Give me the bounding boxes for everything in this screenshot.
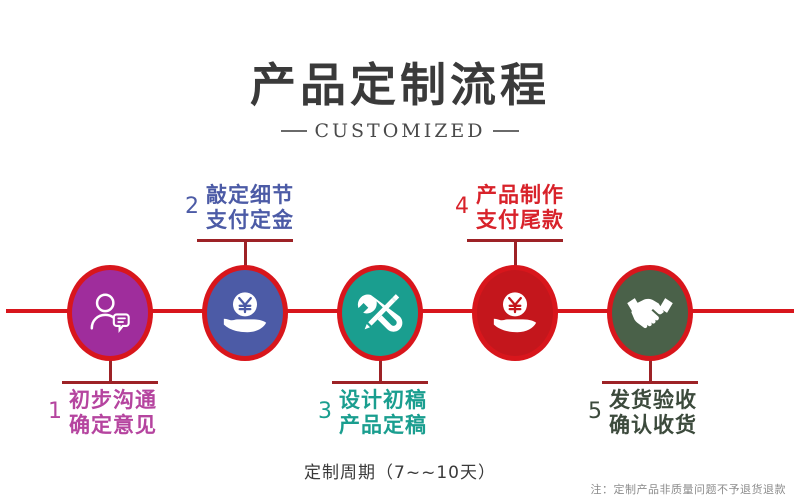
step-node-4[interactable] [472,265,558,361]
step-number-2: 2 [185,183,199,219]
step-text-2: 敲定细节 支付定金 [206,183,294,233]
subtitle-rule-right [493,130,519,132]
hand-yuan-coin-icon [220,288,270,338]
wrench-pencil-icon [356,289,404,337]
step-number-1: 1 [48,388,62,424]
step-disc-2 [207,270,283,356]
disclaimer-note: 注：定制产品非质量问题不予退货退款 [591,481,787,497]
connector-bar-2 [197,239,293,242]
connector-bar-5 [602,381,698,384]
step-node-5[interactable] [607,265,693,361]
step-node-2[interactable] [202,265,288,361]
subtitle-group: CUSTOMIZED [0,120,800,142]
connector-bar-4 [467,239,563,242]
step-number-4: 4 [455,183,469,219]
customization-flow-infographic: 产品定制流程 CUSTOMIZED [0,0,800,501]
step-disc-3 [342,270,418,356]
handshake-icon [625,290,675,336]
step-disc-4 [477,270,553,356]
step-node-1[interactable] [67,265,153,361]
cycle-text: 定制周期（7~~10天） [0,458,800,483]
page-subtitle: CUSTOMIZED [314,120,485,142]
subtitle-rule-left [281,130,307,132]
step-node-3[interactable] [337,265,423,361]
connector-bar-3 [332,381,428,384]
step-text-4: 产品制作 支付尾款 [476,183,564,233]
hand-yuan-coin-icon [490,288,540,338]
step-label-2: 2 敲定细节 支付定金 [185,183,294,233]
header: 产品定制流程 CUSTOMIZED [0,62,800,142]
connector-bar-1 [62,381,158,384]
step-label-5: 5 发货验收 确认收货 [588,388,697,438]
step-disc-5 [612,270,688,356]
step-number-5: 5 [588,388,602,424]
step-text-3: 设计初稿 产品定稿 [339,388,427,438]
step-label-4: 4 产品制作 支付尾款 [455,183,564,233]
step-label-1: 1 初步沟通 确定意见 [48,388,157,438]
person-chat-icon [87,290,133,336]
step-label-3: 3 设计初稿 产品定稿 [318,388,427,438]
step-text-5: 发货验收 确认收货 [609,388,697,438]
step-number-3: 3 [318,388,332,424]
step-text-1: 初步沟通 确定意见 [69,388,157,438]
step-disc-1 [72,270,148,356]
page-title: 产品定制流程 [0,62,800,108]
